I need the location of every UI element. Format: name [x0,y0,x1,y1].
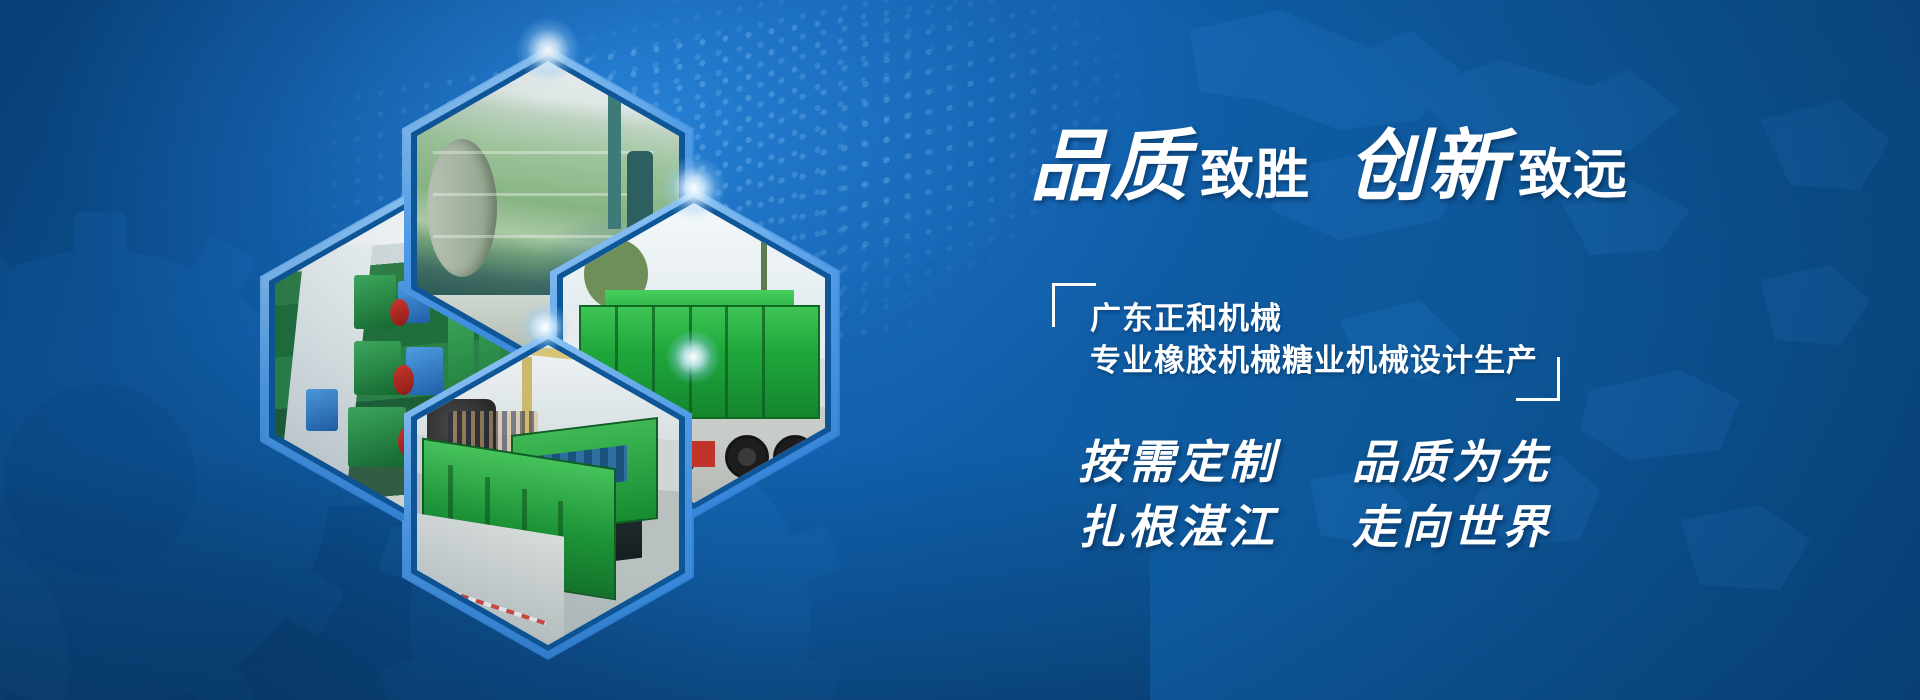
subtitle-line-1: 广东正和机械 [1090,299,1538,341]
headline-brush-2: 创新 [1348,128,1508,206]
slogan-2-left: 扎根湛江 [1078,500,1278,554]
slogan-block: 按需定制 品质为先 扎根湛江 走向世界 [1078,430,1552,561]
hexagon-photo-cluster [130,40,890,640]
slogan-row-2: 扎根湛江 走向世界 [1078,495,1552,560]
subtitle-line-2: 专业橡胶机械糖业机械设计生产 [1090,341,1538,383]
headline: 品质 致胜 创新 致远 [1030,128,1628,206]
slogan-2-right: 走向世界 [1352,500,1552,554]
subtitle-bracket-box: 广东正和机械 专业橡胶机械糖业机械设计生产 [1052,283,1560,401]
headline-plain-2: 致远 [1518,148,1628,202]
subtitle-lines: 广东正和机械 专业橡胶机械糖业机械设计生产 [1090,299,1538,382]
headline-brush-1: 品质 [1030,128,1190,206]
slogan-row-1: 按需定制 品质为先 [1078,430,1552,495]
slogan-1-left: 按需定制 [1078,435,1278,489]
banner-copy: 品质 致胜 创新 致远 广东正和机械 专业橡胶机械糖业机械设计生产 按需定制 品… [1020,0,1840,700]
promo-banner: 品质 致胜 创新 致远 广东正和机械 专业橡胶机械糖业机械设计生产 按需定制 品… [0,0,1920,700]
slogan-1-right: 品质为先 [1352,435,1552,489]
headline-plain-1: 致胜 [1200,148,1310,202]
